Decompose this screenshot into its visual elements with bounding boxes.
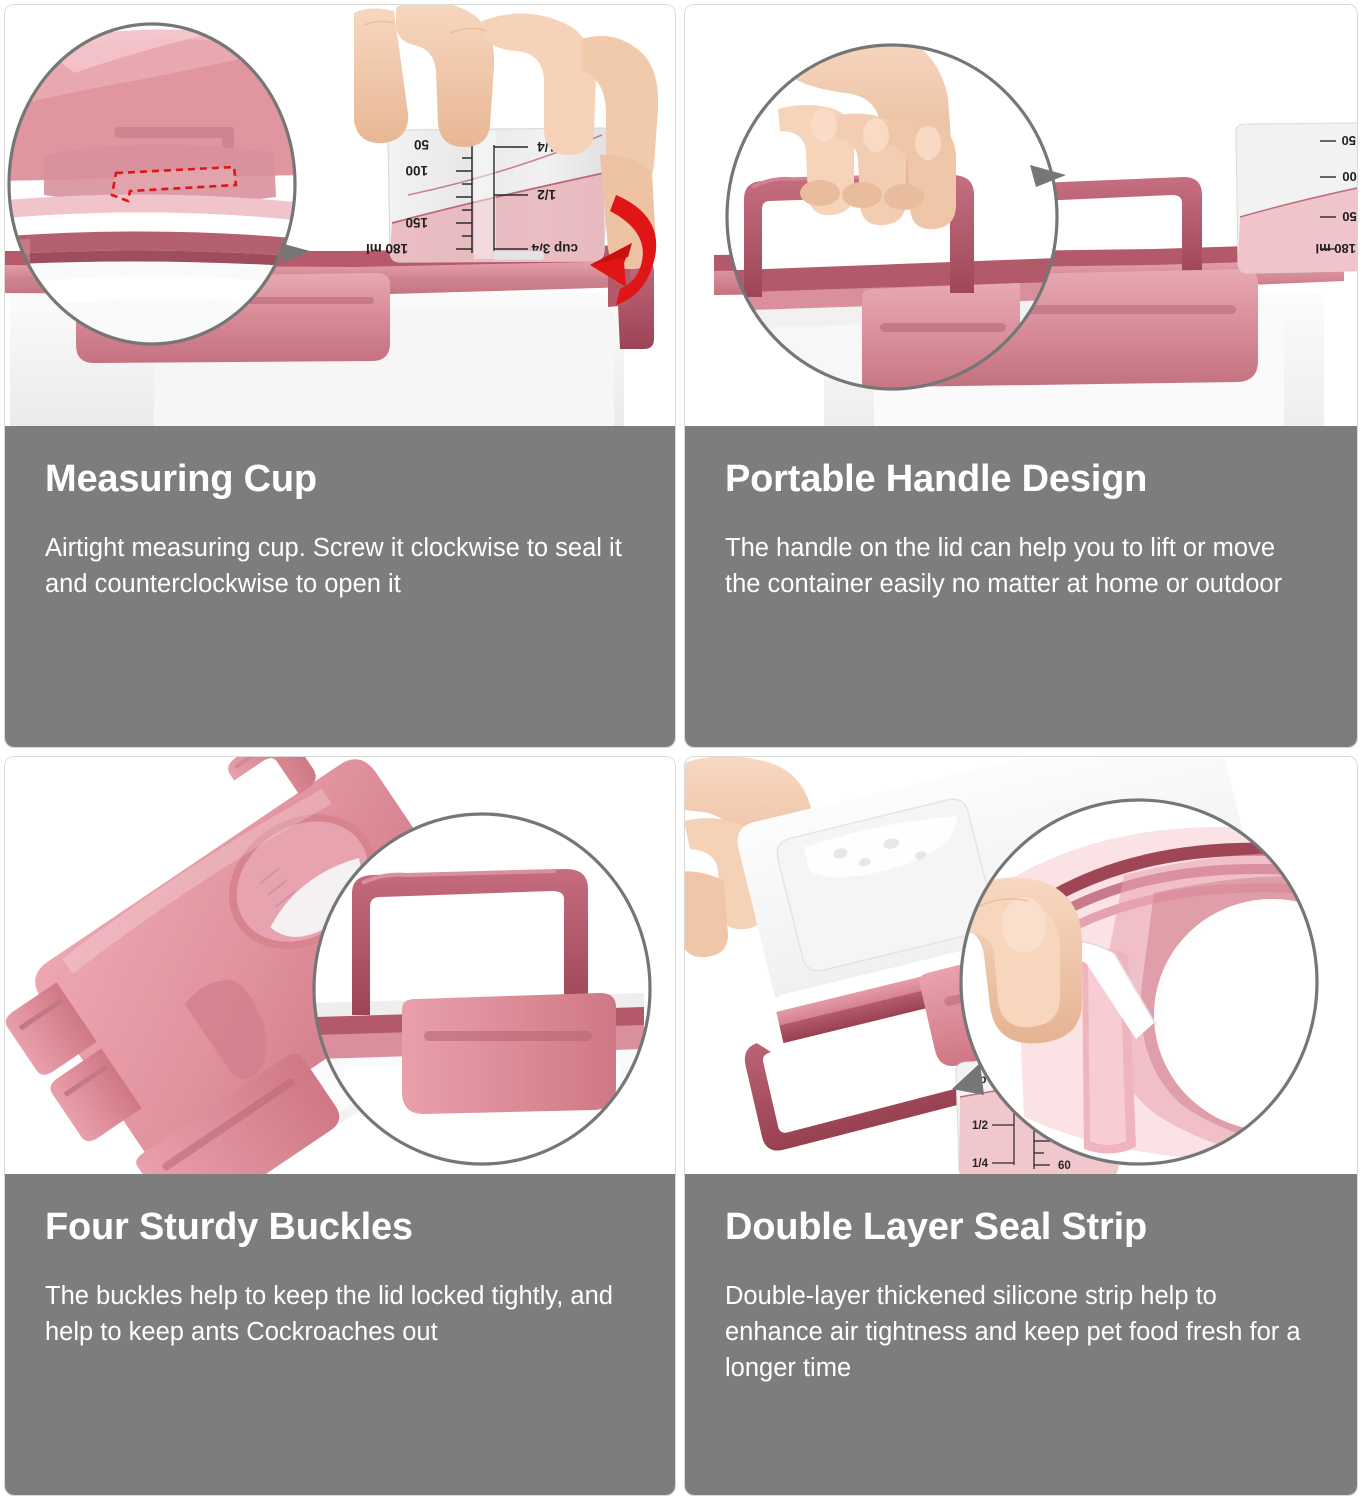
feature-body: The handle on the lid can help you to li… xyxy=(725,530,1315,602)
feature-card-measuring-cup: 50 100 150 180 ml 1/4 1/2 cup 3/4 xyxy=(4,4,676,748)
caption-four-buckles: Four Sturdy Buckles The buckles help to … xyxy=(5,1174,675,1495)
svg-text:1/2: 1/2 xyxy=(537,187,556,202)
feature-heading: Measuring Cup xyxy=(45,460,635,500)
feature-body: Airtight measuring cup. Screw it clockwi… xyxy=(45,530,635,602)
feature-card-double-layer-seal: cup 3/4 1/2 1/4 180 ml 150 100 60 xyxy=(684,756,1358,1496)
double-layer-seal-illustration: cup 3/4 1/2 1/4 180 ml 150 100 60 xyxy=(685,757,1357,1174)
feature-heading: Four Sturdy Buckles xyxy=(45,1208,635,1248)
feature-card-four-buckles: Four Sturdy Buckles The buckles help to … xyxy=(4,756,676,1496)
svg-text:1/2: 1/2 xyxy=(972,1120,988,1132)
caption-portable-handle: Portable Handle Design The handle on the… xyxy=(685,426,1357,747)
svg-text:50: 50 xyxy=(1342,133,1356,148)
portable-handle-illustration: 50 100 150 180 ml xyxy=(685,5,1357,426)
svg-text:60: 60 xyxy=(1058,1160,1071,1172)
product-photo-four-buckles xyxy=(5,757,675,1174)
svg-text:100: 100 xyxy=(405,163,428,178)
feature-heading: Portable Handle Design xyxy=(725,460,1317,500)
four-buckles-illustration xyxy=(5,757,675,1174)
svg-text:1/4: 1/4 xyxy=(972,1158,989,1170)
feature-grid: 50 100 150 180 ml 1/4 1/2 cup 3/4 xyxy=(0,0,1362,1500)
feature-heading: Double Layer Seal Strip xyxy=(725,1208,1317,1248)
product-photo-measuring-cup: 50 100 150 180 ml 1/4 1/2 cup 3/4 xyxy=(5,5,675,426)
feature-body: Double-layer thickened silicone strip he… xyxy=(725,1278,1315,1387)
feature-body: The buckles help to keep the lid locked … xyxy=(45,1278,635,1350)
svg-text:180 ml: 180 ml xyxy=(1316,241,1356,256)
svg-text:50: 50 xyxy=(414,137,429,152)
measuring-cup-illustration: 50 100 150 180 ml 1/4 1/2 cup 3/4 xyxy=(5,5,675,426)
product-photo-portable-handle: 50 100 150 180 ml xyxy=(685,5,1357,426)
svg-text:100: 100 xyxy=(1342,169,1357,184)
svg-text:180 ml: 180 ml xyxy=(366,241,408,256)
svg-text:150: 150 xyxy=(1342,209,1357,224)
measuring-cup: 50 100 150 180 ml xyxy=(1236,123,1357,273)
caption-double-layer-seal: Double Layer Seal Strip Double-layer thi… xyxy=(685,1174,1357,1495)
svg-text:150: 150 xyxy=(405,215,428,230)
product-photo-double-layer-seal: cup 3/4 1/2 1/4 180 ml 150 100 60 xyxy=(685,757,1357,1174)
caption-measuring-cup: Measuring Cup Airtight measuring cup. Sc… xyxy=(5,426,675,747)
feature-card-portable-handle: 50 100 150 180 ml xyxy=(684,4,1358,748)
